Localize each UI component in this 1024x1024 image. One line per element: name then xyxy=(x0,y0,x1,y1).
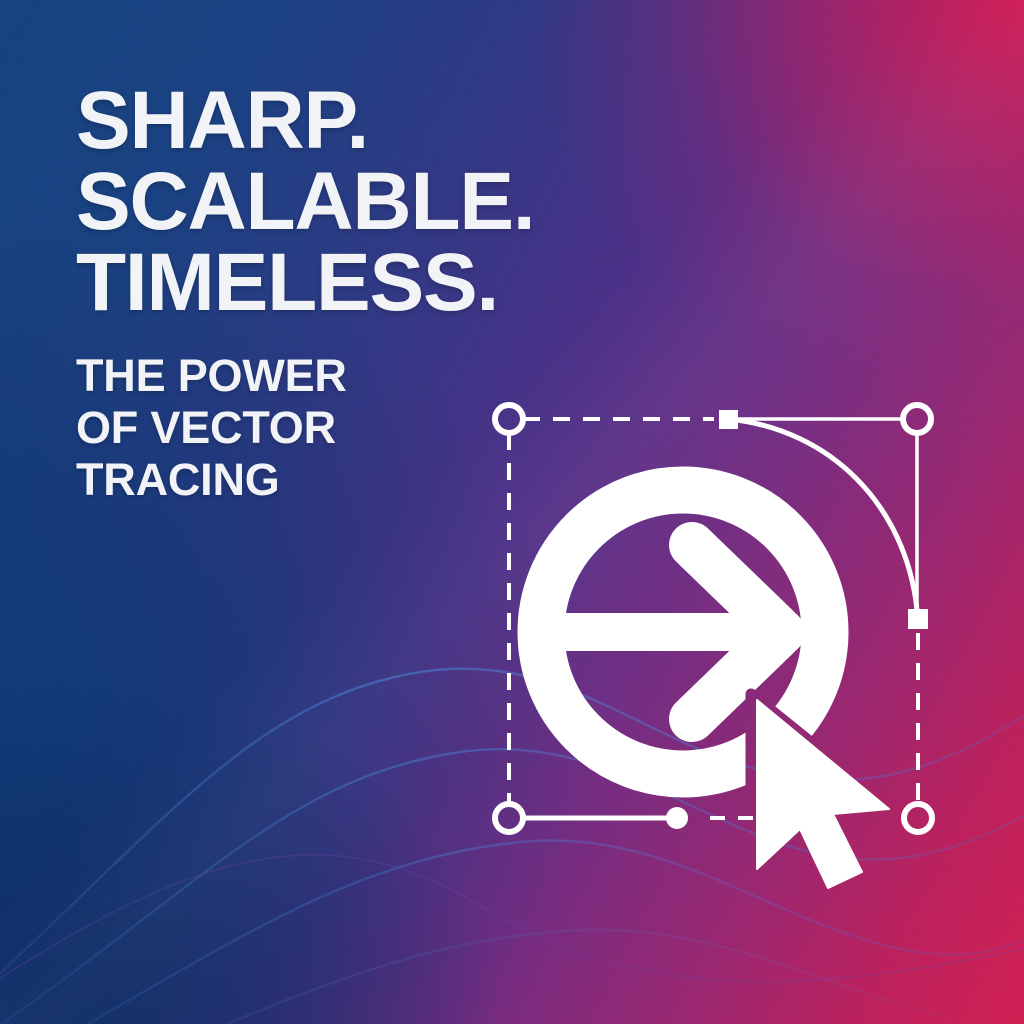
headline-line-3: TIMELESS. xyxy=(76,242,596,323)
handle-top-square[interactable] xyxy=(719,410,738,429)
anchor-top-right[interactable] xyxy=(903,405,931,433)
headline-line-2: SCALABLE. xyxy=(76,161,596,242)
anchor-bottom-right[interactable] xyxy=(904,804,932,832)
handle-right-square[interactable] xyxy=(908,609,928,629)
icon-arrow-shaft xyxy=(560,613,756,651)
anchor-bottom-left[interactable] xyxy=(495,804,523,832)
mouse-pointer-cursor[interactable] xyxy=(757,700,889,888)
page-title: SHARP. SCALABLE. TIMELESS. xyxy=(76,80,596,324)
headline-line-1: SHARP. xyxy=(76,80,596,161)
poster-canvas: SHARP. SCALABLE. TIMELESS. THE POWER OF … xyxy=(0,0,1024,1024)
vector-tracing-illustration xyxy=(470,385,970,905)
node-dot[interactable] xyxy=(666,807,688,829)
anchor-top-left[interactable] xyxy=(495,405,523,433)
